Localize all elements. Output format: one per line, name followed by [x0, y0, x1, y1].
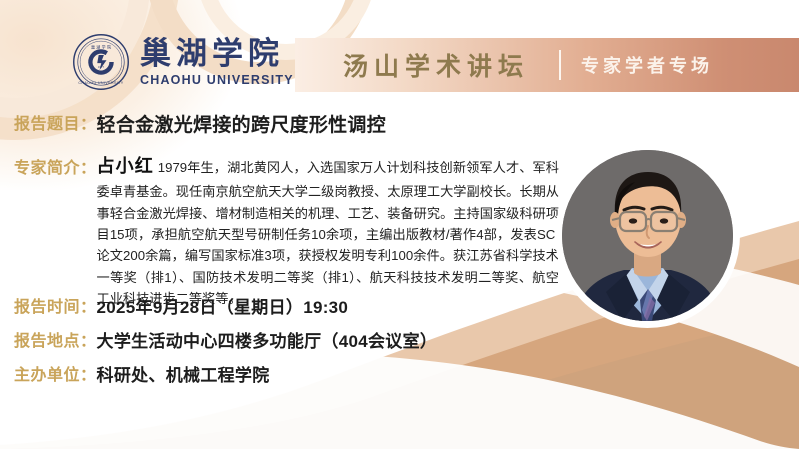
- speaker-portrait-image: [562, 150, 733, 321]
- report-title-value: 轻合金激光焊接的跨尺度形性调控: [97, 110, 387, 137]
- report-place-label: 报告地点：: [14, 327, 97, 351]
- report-time-value: 2025年9月28日（星期日）19:30: [97, 293, 349, 318]
- lecture-poster: 巢 湖 学 院 CHAOHU UNIVERSITY 1977 巢湖学院 CHAO…: [0, 0, 799, 449]
- report-time-row: 报告时间： 2025年9月28日（星期日）19:30: [14, 293, 348, 318]
- speaker-bio-label: 专家简介：: [14, 152, 97, 178]
- report-place-row: 报告地点： 大学生活动中心四楼多功能厅（404会议室）: [14, 327, 437, 352]
- report-time-label: 报告时间：: [14, 293, 97, 317]
- organizer-row: 主办单位： 科研处、机械工程学院: [14, 361, 270, 386]
- report-title-row: 报告题目： 轻合金激光焊接的跨尺度形性调控: [14, 110, 386, 137]
- report-place-value: 大学生活动中心四楼多功能厅（404会议室）: [97, 327, 438, 352]
- speaker-bio-text: 占小红1979年生，湖北黄冈人，入选国家万人计划科技创新领军人才、军科委卓青基金…: [97, 152, 559, 309]
- speaker-bio-row: 专家简介： 占小红1979年生，湖北黄冈人，入选国家万人计划科技创新领军人才、军…: [14, 152, 559, 309]
- organizer-label: 主办单位：: [14, 361, 97, 385]
- speaker-bio-paragraph: 1979年生，湖北黄冈人，入选国家万人计划科技创新领军人才、军科委卓青基金。现任…: [97, 160, 559, 306]
- speaker-portrait: [562, 150, 733, 321]
- speaker-name: 占小红: [97, 156, 154, 176]
- report-title-label: 报告题目：: [14, 110, 97, 134]
- organizer-value: 科研处、机械工程学院: [97, 361, 270, 386]
